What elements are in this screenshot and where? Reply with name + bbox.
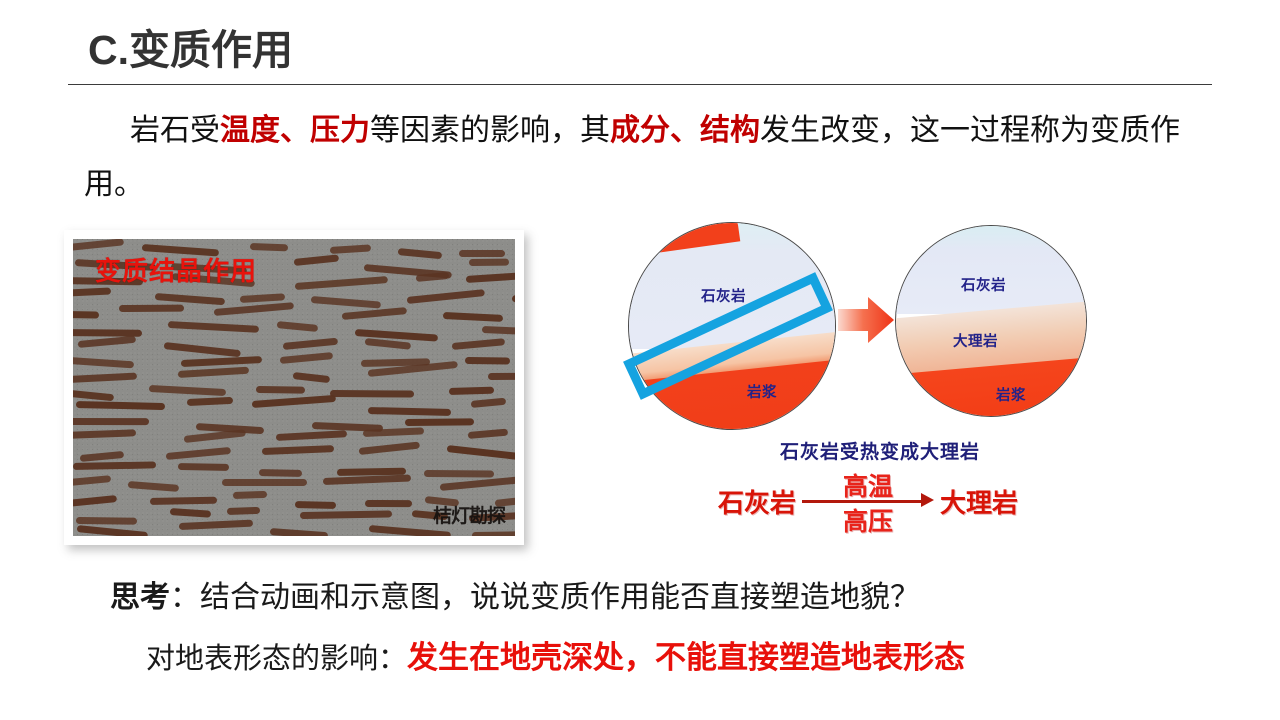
mineral-streak [405,419,474,427]
equation-right-term: 大理岩 [940,483,1018,520]
page-title: C.变质作用 [88,16,293,76]
mineral-streak [73,311,99,319]
title-divider [68,84,1212,85]
mineral-streak [295,501,336,509]
mineral-streak [424,470,494,478]
label-magma-after: 岩浆 [996,384,1026,405]
mineral-streak [259,469,302,477]
equation-arrow-head [921,493,934,507]
reaction-equation: 石灰岩 高温 高压 大理岩 [718,473,1018,529]
mineral-streak [488,373,515,380]
paragraph-segment-1: 岩石受 [130,114,220,147]
label-limestone-after: 石灰岩 [961,274,1006,295]
think-question: 思考：结合动画和示意图，说说变质作用能否直接塑造地貌？ [110,572,920,616]
paragraph-highlight-1: 温度、压力 [220,114,370,147]
limestone-layer-after [895,225,1087,314]
mineral-streak [73,418,149,425]
label-magma-before: 岩浆 [747,381,777,402]
definition-paragraph: 岩石受温度、压力等因素的影响，其成分、结构发生改变，这一过程称为变质作用。 [84,104,1196,212]
animation-overlay-label: 变质结晶作用 [95,251,257,288]
animation-canvas: 变质结晶作用 桔灯勘探 [73,239,515,536]
equation-condition-below: 高压 [820,502,916,538]
impact-statement: 对地表形态的影响：发生在地壳深处，不能直接塑造地表形态 [146,632,965,677]
mineral-streak [465,357,511,365]
mineral-streak [469,258,509,265]
paragraph-highlight-2: 成分、结构 [610,114,760,147]
impact-prefix: 对地表形态的影响： [146,643,407,675]
equation-arrow-icon: 高温 高压 [802,473,934,529]
mineral-streak [73,461,155,470]
mineral-streak [227,507,260,515]
think-rest: ：结合动画和示意图，说说变质作用能否直接塑造地貌？ [170,581,920,614]
diagram-caption: 石灰岩受热变成大理岩 [700,437,1060,464]
mineral-streak [330,390,414,398]
mineral-streak [256,386,305,394]
mineral-streak [178,463,230,471]
metamorphism-diagram: 石灰岩 岩浆 石灰岩 大理岩 岩浆 石灰岩受热变成大理岩 石灰岩 高温 高压 大… [600,205,1140,555]
equation-left-term: 石灰岩 [718,483,796,520]
think-prefix: 思考 [110,581,170,614]
mineral-streak [119,304,184,311]
rock-circle-after: 石灰岩 大理岩 岩浆 [895,225,1087,417]
paragraph-segment-2: 等因素的影响，其 [370,114,610,147]
label-marble-after: 大理岩 [953,330,998,351]
mineral-streak [472,531,515,536]
equation-condition-above: 高温 [820,467,916,503]
mineral-streak [365,500,412,507]
metamorphic-animation-figure[interactable]: 变质结晶作用 桔灯勘探 [64,230,524,545]
impact-answer: 发生在地壳深处，不能直接塑造地表形态 [407,640,965,675]
mineral-streak [150,497,217,505]
label-limestone-before: 石灰岩 [701,285,746,306]
animation-watermark: 桔灯勘探 [433,501,505,528]
transformation-arrow-icon [838,293,894,347]
mineral-streak [222,479,307,486]
mineral-streak [76,517,137,525]
mineral-streak [459,250,505,257]
mineral-streak [233,491,267,499]
